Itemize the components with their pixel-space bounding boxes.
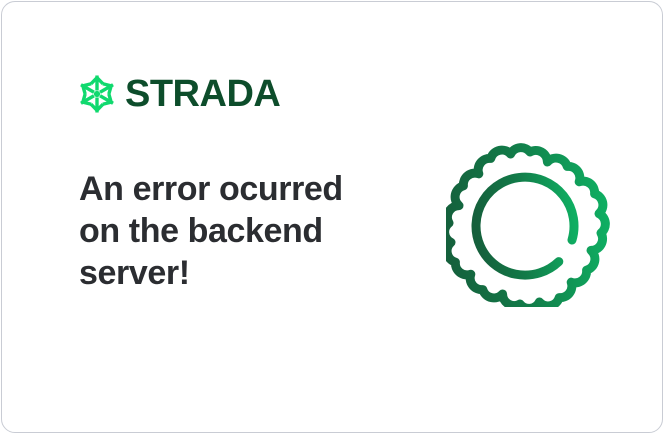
gear-icon <box>446 139 614 307</box>
error-card: STRADA An error ocurred on the backend s… <box>1 1 663 433</box>
brand-logo: STRADA <box>77 70 280 118</box>
brand-wordmark: STRADA <box>125 75 280 113</box>
strada-asterisk-icon <box>77 74 117 114</box>
error-message: An error ocurred on the backend server! <box>79 168 379 294</box>
